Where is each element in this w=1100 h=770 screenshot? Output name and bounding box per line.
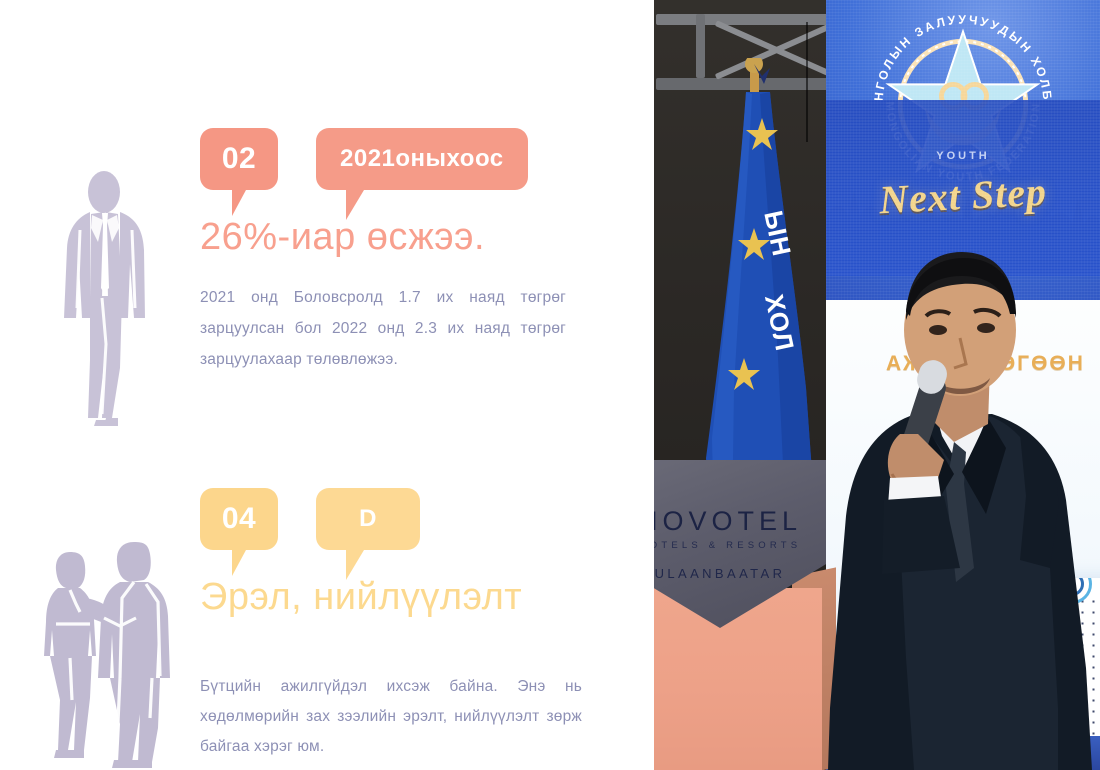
badge-number: 04 [200, 488, 278, 550]
slide-block-04: 04 D Эрэл, нийлүүлэлт Бүтцийн ажилгүйдэл… [200, 488, 582, 762]
speaker-person [814, 238, 1100, 770]
handshake-silhouette-icon [26, 538, 186, 770]
badge-row: 02 2021оныхоос [200, 128, 566, 202]
hotel-brand-name: NOVOTEL [636, 506, 826, 537]
conference-photograph: МОНГОЛЫН ЗАЛУУЧУУДЫН ХОЛБОО MONGOLIAN YO… [636, 0, 1100, 770]
slide-block-02: 02 2021оныхоос 26%-иар өсжээ. 2021 онд Б… [200, 128, 566, 375]
badge-tag: D [316, 488, 420, 550]
slide-photo-composite: 02 2021оныхоос 26%-иар өсжээ. 2021 онд Б… [0, 0, 1100, 770]
svg-text:MONGOLIAN YOUTH FEDERATION: MONGOLIAN YOUTH FEDERATION [883, 101, 1042, 183]
photo-left-margin [636, 0, 654, 770]
block-paragraph: Бүтцийн ажилгүйдэл ихсэж байна. Энэ нь х… [200, 672, 582, 763]
badge-row: 04 D [200, 488, 582, 562]
next-step-title: Next Step [826, 165, 1100, 226]
block-headline: 26%-иар өсжээ. [200, 216, 566, 260]
mongolian-youth-federation-emblem-icon: МОНГОЛЫН ЗАЛУУЧУУДЫН ХОЛБОО MONGOLIAN YO… [865, 6, 1061, 202]
block-paragraph: 2021 онд Боловсролд 1.7 их наяд төгрөг з… [200, 282, 566, 375]
svg-text:МОНГОЛЫН ЗАЛУУЧУУДЫН ХОЛБОО: МОНГОЛЫН ЗАЛУУЧУУДЫН ХОЛБОО [865, 6, 1054, 103]
block-headline: Эрэл, нийлүүлэлт [200, 576, 582, 620]
badge-tag: 2021оныхоос [316, 128, 528, 190]
slide-panel: 02 2021оныхоос 26%-иар өсжээ. 2021 онд Б… [0, 0, 640, 770]
hotel-brand-tagline: HOTELS & RESORTS [636, 540, 826, 551]
banner-label: YOUTH [826, 150, 1100, 162]
hotel-city: ULAANBAATAR [636, 566, 826, 581]
businessman-silhouette-icon [46, 168, 174, 428]
badge-number: 02 [200, 128, 278, 190]
